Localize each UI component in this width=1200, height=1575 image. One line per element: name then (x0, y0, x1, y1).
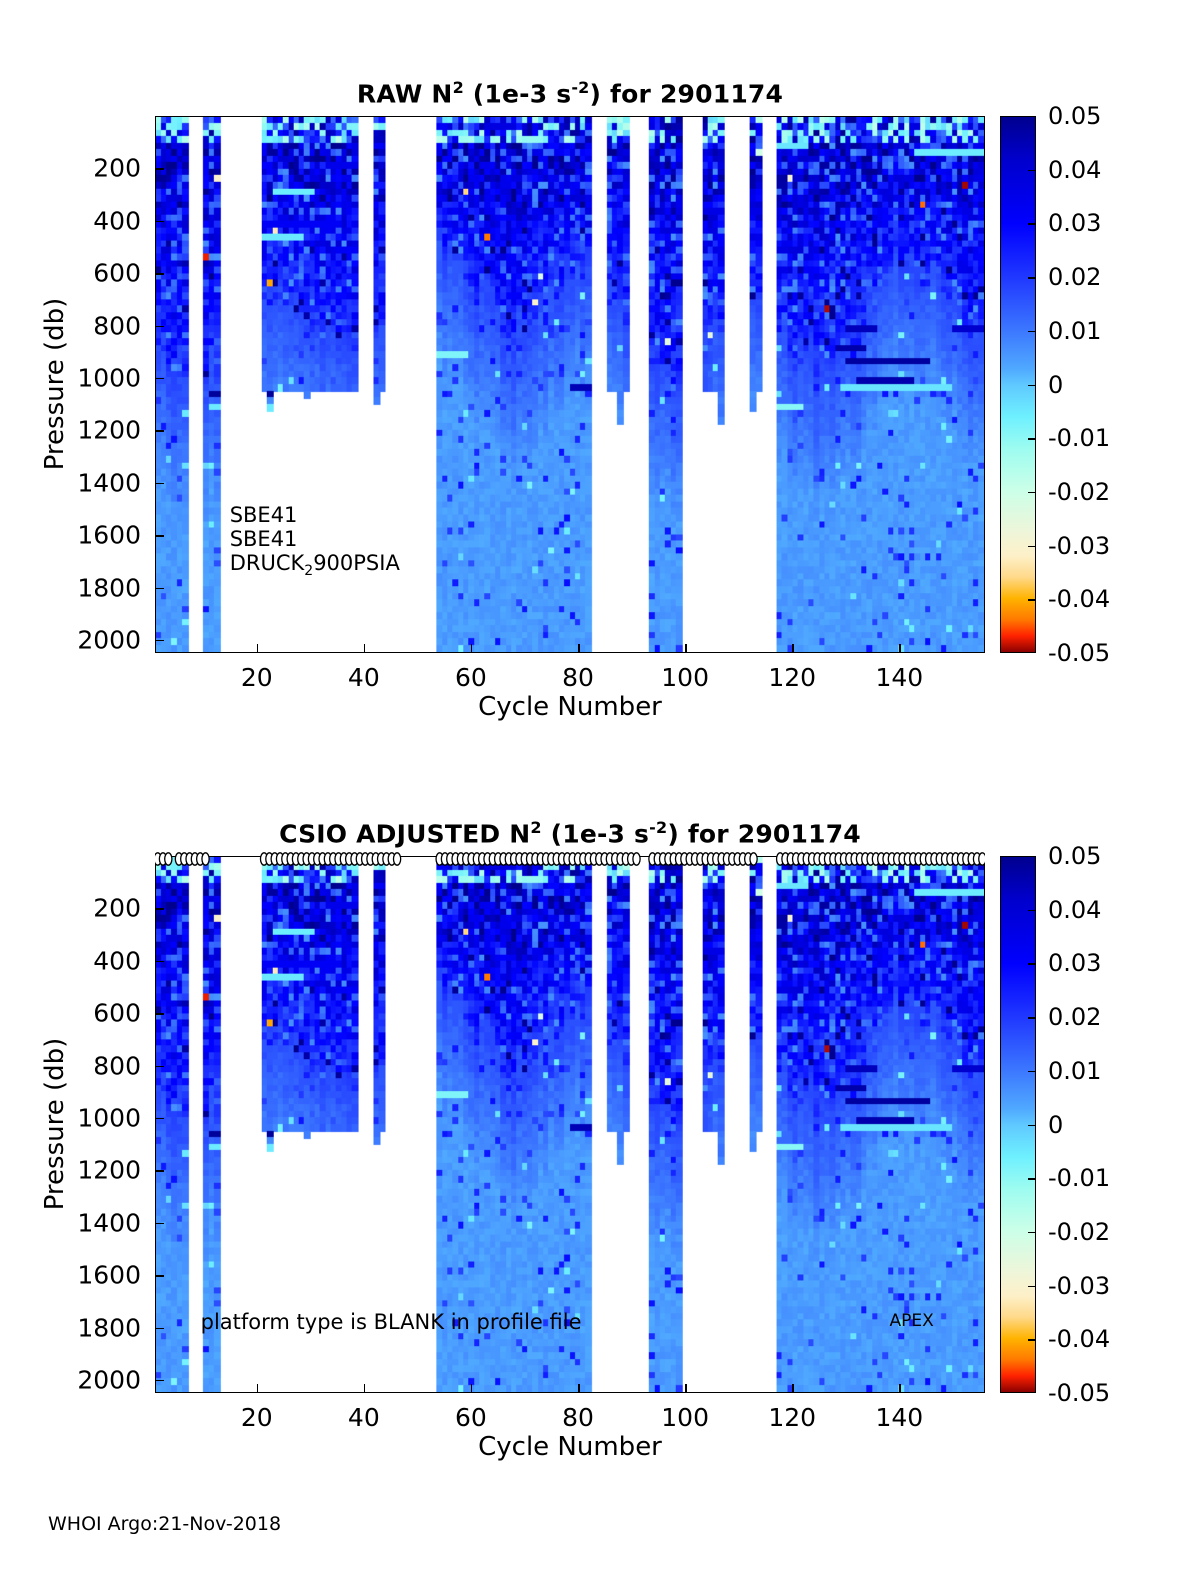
x-axis-tick-mark (471, 644, 473, 653)
y-axis-tick-mark (155, 908, 164, 910)
x-axis-tick-mark (792, 1384, 794, 1393)
cycle-marker (750, 853, 757, 865)
cycle-marker (393, 853, 400, 865)
cycle-marker (979, 853, 985, 865)
colorbar-tick-label: -0.03 (1048, 532, 1110, 560)
x-axis-tick-label: 20 (241, 663, 273, 692)
y-axis-tick-mark (155, 326, 164, 328)
adjusted-x-axis-label: Cycle Number (155, 1432, 985, 1462)
y-axis-tick-label: 1400 (16, 468, 141, 497)
platform-model: APEX (890, 1311, 934, 1331)
pressure-sensor-line: DRUCK2900PSIA (230, 551, 400, 579)
y-axis-tick-mark (155, 1066, 164, 1068)
x-axis-tick-mark (685, 644, 687, 653)
colorbar-tick-mark (1028, 1286, 1036, 1288)
sensor-line-2: SBE41 (230, 527, 298, 551)
colorbar-tick-mark (1028, 910, 1036, 912)
platform-type-note: platform type is BLANK in profile file (201, 1310, 582, 1334)
adjusted-top-cycle-markers (155, 850, 985, 868)
y-axis-tick-mark (155, 535, 164, 537)
x-axis-tick-label: 100 (661, 663, 709, 692)
x-axis-tick-label: 80 (562, 663, 594, 692)
adjusted-title-mid: (1e-3 s (542, 819, 649, 848)
adjusted-title-pre: CSIO ADJUSTED N (279, 819, 530, 848)
panel-raw: RAW N2 (1e-3 s-2) for 2901174 2004006008… (0, 0, 1200, 790)
colorbar-tick-label: -0.03 (1048, 1272, 1110, 1300)
raw-title-sup1: 2 (453, 78, 464, 97)
colorbar-tick-label: 0.04 (1048, 896, 1101, 924)
colorbar-tick-label: 0.04 (1048, 156, 1101, 184)
x-axis-tick-label: 120 (768, 1403, 816, 1432)
y-axis-tick-label: 800 (16, 311, 141, 340)
cycle-marker-series (155, 850, 985, 868)
x-axis-tick-mark (685, 1384, 687, 1393)
x-axis-tick-mark (257, 644, 259, 653)
colorbar-tick-label: 0.01 (1048, 317, 1101, 345)
y-axis-tick-label: 600 (16, 999, 141, 1028)
colorbar-tick-label: 0.03 (1048, 209, 1101, 237)
y-axis-tick-label: 2000 (16, 1365, 141, 1394)
y-axis-tick-mark (155, 1118, 164, 1120)
x-axis-tick-mark (578, 644, 580, 653)
colorbar-tick-mark (1028, 331, 1036, 333)
colorbar-tick-mark (1028, 492, 1036, 494)
colorbar-tick-label: 0.03 (1048, 949, 1101, 977)
x-axis-tick-mark (578, 1384, 580, 1393)
y-axis-tick-mark (155, 1223, 164, 1225)
y-axis-tick-mark (155, 640, 164, 642)
x-axis-tick-mark (364, 644, 366, 653)
colorbar-tick-mark (1028, 438, 1036, 440)
y-axis-tick-label: 400 (16, 946, 141, 975)
raw-title-pre: RAW N (357, 79, 453, 108)
colorbar-tick-label: -0.01 (1048, 424, 1110, 452)
y-axis-tick-mark (155, 273, 164, 275)
raw-x-axis-label: Cycle Number (155, 692, 985, 722)
x-axis-tick-mark (899, 1384, 901, 1393)
raw-title-post: ) for 2901174 (590, 79, 784, 108)
x-axis-tick-label: 40 (348, 1403, 380, 1432)
y-axis-tick-label: 1200 (16, 1156, 141, 1185)
x-axis-tick-mark (471, 1384, 473, 1393)
colorbar-tick-mark (1028, 277, 1036, 279)
y-axis-tick-mark (155, 168, 164, 170)
colorbar-tick-mark (1028, 1339, 1036, 1341)
colorbar-tick-label: -0.02 (1048, 478, 1110, 506)
colorbar-tick-label: -0.05 (1048, 639, 1110, 667)
colorbar-tick-label: 0.02 (1048, 263, 1101, 291)
y-axis-tick-label: 1800 (16, 573, 141, 602)
colorbar-tick-mark (1028, 1178, 1036, 1180)
cycle-marker (202, 853, 209, 865)
colorbar-tick-mark (1028, 170, 1036, 172)
colorbar-tick-label: -0.04 (1048, 1325, 1110, 1353)
y-axis-tick-mark (155, 483, 164, 485)
x-axis-tick-label: 80 (562, 1403, 594, 1432)
y-axis-tick-label: 600 (16, 259, 141, 288)
y-axis-tick-mark (155, 1328, 164, 1330)
y-axis-tick-mark (155, 1275, 164, 1277)
x-axis-tick-label: 20 (241, 1403, 273, 1432)
colorbar-tick-label: 0.05 (1048, 102, 1101, 130)
x-axis-tick-label: 140 (875, 663, 923, 692)
cycle-marker (633, 853, 640, 865)
y-axis-tick-label: 400 (16, 206, 141, 235)
y-axis-tick-label: 1600 (16, 1261, 141, 1290)
adjusted-y-axis-label: Pressure (db) (40, 994, 70, 1254)
adjusted-title-sup1: 2 (530, 818, 541, 837)
colorbar-tick-mark (1028, 1232, 1036, 1234)
colorbar-tick-mark (1028, 385, 1036, 387)
x-axis-tick-label: 60 (455, 663, 487, 692)
y-axis-tick-label: 800 (16, 1051, 141, 1080)
colorbar-tick-mark (1028, 1125, 1036, 1127)
colorbar-tick-label: -0.04 (1048, 585, 1110, 613)
y-axis-tick-mark (155, 221, 164, 223)
y-axis-tick-mark (155, 378, 164, 380)
colorbar-tick-mark (1028, 223, 1036, 225)
colorbar-tick-label: 0 (1048, 371, 1063, 399)
adjusted-title-sup2: -2 (649, 818, 667, 837)
cycle-marker (165, 853, 172, 865)
colorbar-tick-label: -0.02 (1048, 1218, 1110, 1246)
y-axis-tick-label: 1800 (16, 1313, 141, 1342)
y-axis-tick-label: 1400 (16, 1208, 141, 1237)
y-axis-tick-mark (155, 961, 164, 963)
figure-footer: WHOI Argo:21-Nov-2018 (48, 1513, 281, 1535)
y-axis-tick-label: 2000 (16, 625, 141, 654)
raw-title-mid: (1e-3 s (464, 79, 571, 108)
raw-plot-title: RAW N2 (1e-3 s-2) for 2901174 (155, 78, 985, 108)
x-axis-tick-label: 40 (348, 663, 380, 692)
y-axis-tick-mark (155, 1170, 164, 1172)
adjusted-title-post: ) for 2901174 (667, 819, 861, 848)
y-axis-tick-mark (155, 1380, 164, 1382)
colorbar-tick-label: 0 (1048, 1111, 1063, 1139)
colorbar-tick-mark (1028, 599, 1036, 601)
x-axis-tick-mark (364, 1384, 366, 1393)
colorbar-tick-label: 0.02 (1048, 1003, 1101, 1031)
x-axis-tick-mark (257, 1384, 259, 1393)
y-axis-tick-label: 200 (16, 894, 141, 923)
colorbar-tick-label: -0.01 (1048, 1164, 1110, 1192)
x-axis-tick-label: 60 (455, 1403, 487, 1432)
adjusted-plot-title: CSIO ADJUSTED N2 (1e-3 s-2) for 2901174 (155, 818, 985, 848)
y-axis-tick-mark (155, 1013, 164, 1015)
colorbar-tick-mark (1028, 1017, 1036, 1019)
y-axis-tick-label: 1600 (16, 521, 141, 550)
x-axis-tick-label: 140 (875, 1403, 923, 1432)
y-axis-tick-label: 1000 (16, 1103, 141, 1132)
x-axis-tick-mark (792, 644, 794, 653)
y-axis-tick-label: 1200 (16, 416, 141, 445)
colorbar-tick-label: 0.05 (1048, 842, 1101, 870)
y-axis-tick-mark (155, 588, 164, 590)
y-axis-tick-label: 1000 (16, 363, 141, 392)
x-axis-tick-label: 100 (661, 1403, 709, 1432)
y-axis-tick-label: 200 (16, 154, 141, 183)
colorbar-tick-mark (1028, 1071, 1036, 1073)
panel-adjusted: CSIO ADJUSTED N2 (1e-3 s-2) for 2901174 … (0, 740, 1200, 1530)
raw-y-axis-label: Pressure (db) (40, 254, 70, 514)
x-axis-tick-mark (899, 644, 901, 653)
colorbar-tick-mark (1028, 963, 1036, 965)
sensor-line-1: SBE41 (230, 503, 298, 527)
raw-title-sup2: -2 (571, 78, 589, 97)
x-axis-tick-label: 120 (768, 663, 816, 692)
colorbar-tick-label: -0.05 (1048, 1379, 1110, 1407)
y-axis-tick-mark (155, 430, 164, 432)
colorbar-tick-label: 0.01 (1048, 1057, 1101, 1085)
colorbar-tick-mark (1028, 546, 1036, 548)
